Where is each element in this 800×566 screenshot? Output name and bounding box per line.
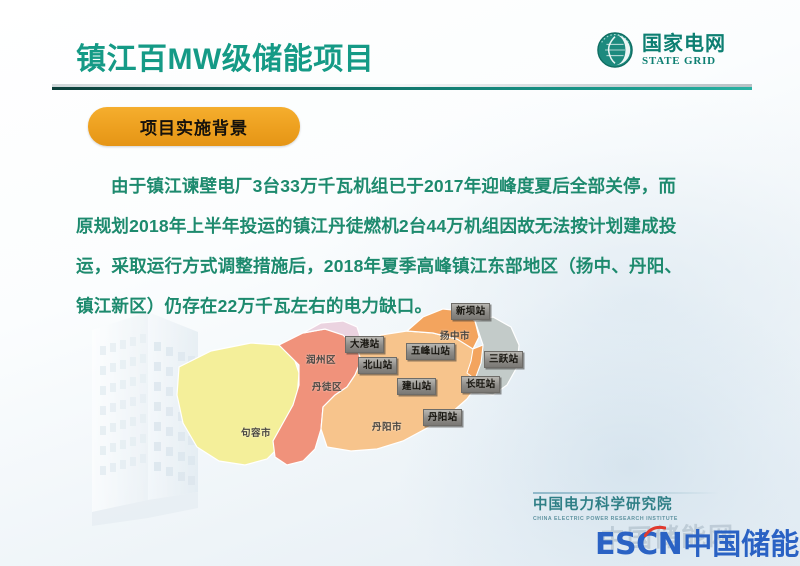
state-grid-emblem-icon bbox=[596, 31, 634, 69]
map-label-layer: 润州区 丹徒区 扬中市 丹阳市 句容市 新坝站 大港站 五峰山站 三跃站 北山站… bbox=[175, 295, 525, 510]
cepri-logo: 中国电力科学研究院 CHINA ELECTRIC POWER RESEARCH … bbox=[533, 492, 723, 522]
body-line-1: 由于镇江谏壁电厂3台33万千瓦机组已于2017年迎峰度夏后全部关停，而 bbox=[76, 168, 738, 204]
escn-wordmark: ESCN bbox=[595, 530, 682, 560]
cepri-divider bbox=[533, 492, 719, 494]
map-label-runzhou: 润州区 bbox=[306, 352, 336, 366]
header-divider bbox=[52, 84, 752, 92]
escn-wordmark-text: ESCN bbox=[595, 527, 682, 562]
state-grid-logo-cn: 国家电网 bbox=[642, 34, 726, 54]
header-divider-teal bbox=[52, 87, 752, 90]
map-station-wufengshan: 五峰山站 bbox=[406, 343, 455, 360]
slide-header: 镇江百MW级储能项目 国家电网 STATE GRID bbox=[0, 0, 800, 95]
map-label-jurong: 句容市 bbox=[241, 425, 271, 439]
slide-canvas: 镇江百MW级储能项目 国家电网 STATE GRID bbox=[0, 0, 800, 566]
state-grid-logo-text: 国家电网 STATE GRID bbox=[642, 34, 726, 67]
map-station-danyang: 丹阳站 bbox=[423, 409, 462, 426]
map-label-danyang: 丹阳市 bbox=[372, 419, 402, 433]
map-station-xinba: 新坝站 bbox=[451, 303, 490, 320]
map-station-changwang: 长旺站 bbox=[461, 376, 500, 393]
map-label-dantu: 丹徒区 bbox=[312, 379, 342, 393]
section-heading-pill: 项目实施背景 bbox=[88, 107, 300, 146]
body-line-2: 原规划2018年上半年投运的镇江丹徒燃机2台44万机组因故无法按计划建成投 bbox=[76, 208, 738, 244]
map-station-dagang: 大港站 bbox=[345, 336, 384, 353]
map-station-jianshan: 建山站 bbox=[397, 378, 436, 395]
state-grid-logo: 国家电网 STATE GRID bbox=[596, 31, 726, 69]
body-line-3: 运，采取运行方式调整措施后，2018年夏季高峰镇江东部地区（扬中、丹阳、 bbox=[76, 248, 738, 284]
escn-watermark-cn: 中国储能网 bbox=[683, 531, 800, 560]
map-station-beishan: 北山站 bbox=[358, 357, 397, 374]
zhenjiang-region-map: 润州区 丹徒区 扬中市 丹阳市 句容市 新坝站 大港站 五峰山站 三跃站 北山站… bbox=[175, 295, 525, 510]
state-grid-logo-en: STATE GRID bbox=[642, 56, 726, 67]
map-station-sanyue: 三跃站 bbox=[484, 351, 523, 368]
cepri-logo-cn: 中国电力科学研究院 bbox=[533, 498, 723, 514]
escn-watermark: ESCN 中国储能网 bbox=[595, 530, 800, 560]
cepri-logo-en: CHINA ELECTRIC POWER RESEARCH INSTITUTE bbox=[533, 516, 723, 522]
section-heading-label: 项目实施背景 bbox=[140, 114, 248, 139]
map-label-yangzhong: 扬中市 bbox=[440, 328, 470, 342]
page-title: 镇江百MW级储能项目 bbox=[76, 34, 374, 78]
